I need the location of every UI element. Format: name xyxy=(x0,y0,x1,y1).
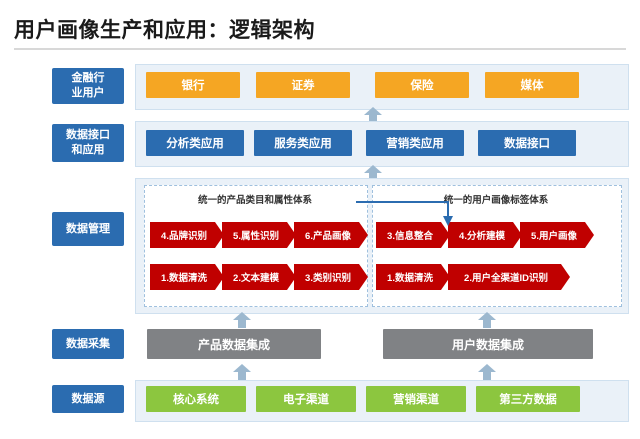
arrow-stem xyxy=(483,371,491,380)
process-data-cleaning-right[interactable]: 1.数据清洗 xyxy=(376,264,450,290)
row-label-source-text: 数据源 xyxy=(72,392,105,407)
process-omnichannel-id[interactable]: 2.用户全渠道ID识别 xyxy=(448,264,570,290)
row-label-management: 数据管理 xyxy=(52,212,124,246)
process-category-recognition[interactable]: 3.类别识别 xyxy=(294,264,368,290)
process-user-profile[interactable]: 5.用户画像 xyxy=(520,222,594,248)
user-item-media[interactable]: 媒体 xyxy=(485,72,579,98)
collection-item-product[interactable]: 产品数据集成 xyxy=(147,329,321,359)
user-item-securities[interactable]: 证券 xyxy=(256,72,350,98)
process-text-modeling[interactable]: 2.文本建模 xyxy=(222,264,296,290)
collection-item-user[interactable]: 用户数据集成 xyxy=(383,329,593,359)
title-divider xyxy=(14,48,626,50)
row-label-collection: 数据采集 xyxy=(52,329,124,359)
interface-item-marketing[interactable]: 营销类应用 xyxy=(366,130,464,156)
arrow-product-collection-to-management xyxy=(233,312,251,328)
source-item-third-party[interactable]: 第三方数据 xyxy=(476,386,580,412)
interface-item-data-api[interactable]: 数据接口 xyxy=(478,130,576,156)
row-label-interface-text: 数据接口 和应用 xyxy=(66,128,110,158)
row-label-users: 金融行 业用户 xyxy=(52,68,124,104)
row-label-collection-text: 数据采集 xyxy=(66,337,110,352)
arrow-user-collection-to-management xyxy=(478,312,496,328)
process-data-cleaning-left[interactable]: 1.数据清洗 xyxy=(150,264,224,290)
process-attribute-recognition[interactable]: 5.属性识别 xyxy=(222,222,296,248)
source-item-e-channel[interactable]: 电子渠道 xyxy=(256,386,356,412)
page-title: 用户画像生产和应用：逻辑架构 xyxy=(14,14,315,44)
process-brand-recognition[interactable]: 4.品牌识别 xyxy=(150,222,224,248)
row-label-users-text: 金融行 业用户 xyxy=(72,71,105,101)
row-label-interface: 数据接口 和应用 xyxy=(52,124,124,162)
arrow-stem xyxy=(238,319,246,328)
arrow-source-to-user-collection xyxy=(478,364,496,380)
arrow-source-to-product-collection xyxy=(233,364,251,380)
management-left-title: 统一的产品类目和属性体系 xyxy=(144,192,366,206)
row-label-management-text: 数据管理 xyxy=(66,222,110,237)
arrow-stem xyxy=(483,319,491,328)
source-item-core-system[interactable]: 核心系统 xyxy=(146,386,246,412)
arrow-stem xyxy=(238,371,246,380)
row-label-source: 数据源 xyxy=(52,385,124,413)
user-item-bank[interactable]: 银行 xyxy=(146,72,240,98)
user-item-insurance[interactable]: 保险 xyxy=(375,72,469,98)
connector-left-to-right-icon xyxy=(352,196,462,230)
source-item-marketing-channel[interactable]: 营销渠道 xyxy=(366,386,466,412)
interface-item-service[interactable]: 服务类应用 xyxy=(254,130,352,156)
interface-item-analysis[interactable]: 分析类应用 xyxy=(146,130,244,156)
